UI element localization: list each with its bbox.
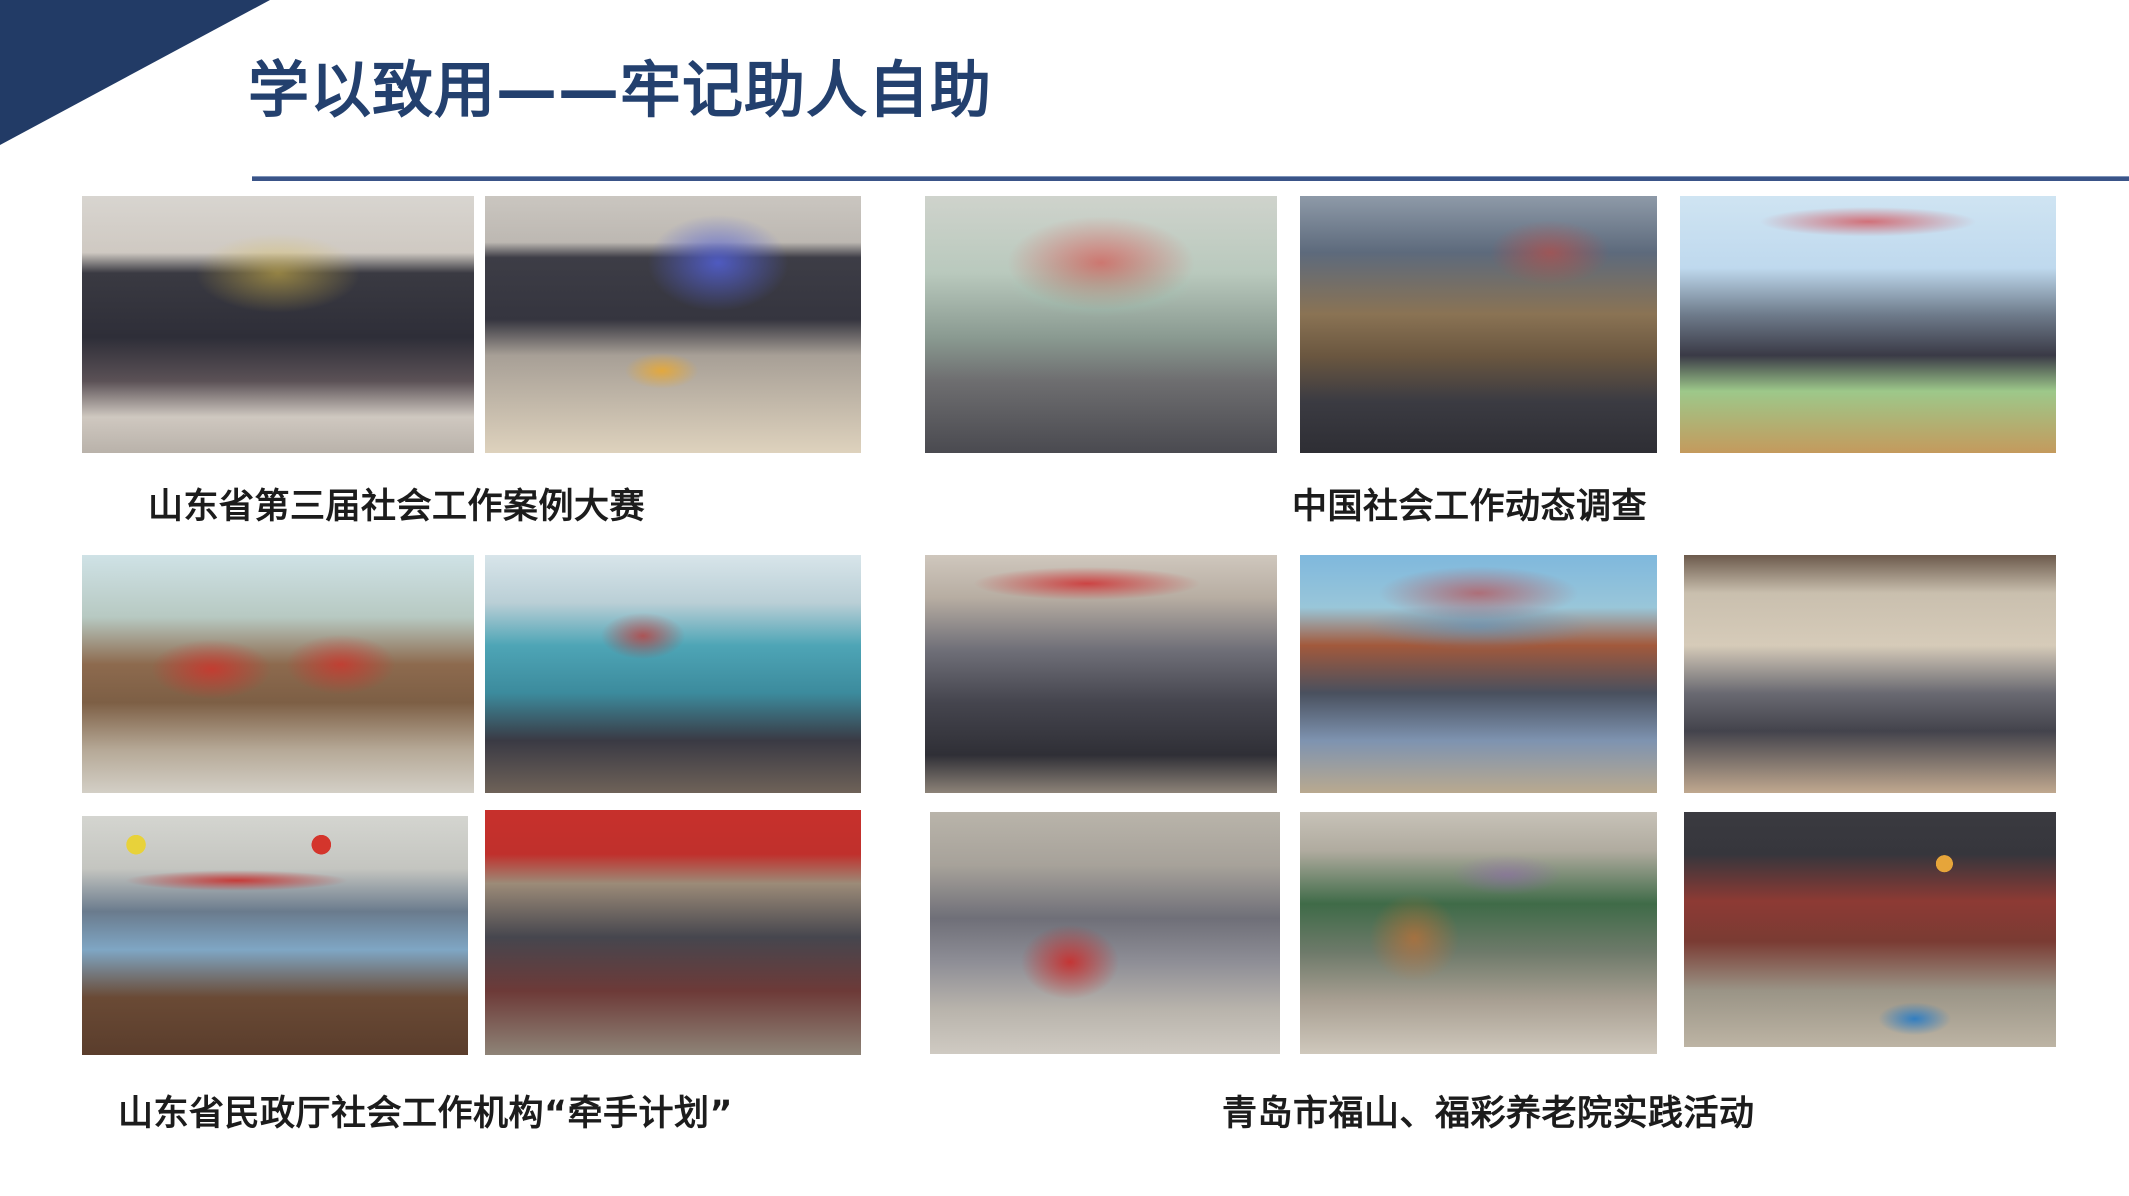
photo-row1-col2 <box>485 196 861 453</box>
photo-row2-col2 <box>485 555 861 793</box>
photo-row2-col5 <box>1684 555 2056 793</box>
photo-row1-col1 <box>82 196 474 453</box>
caption-top-right: 中国社会工作动态调查 <box>1292 478 1647 529</box>
photo-row3-col4 <box>1300 812 1657 1054</box>
photo-row2-col3 <box>925 555 1277 793</box>
photo-row1-col4 <box>1300 196 1657 453</box>
title-underline-rule <box>252 176 2129 181</box>
photo-row2-col1 <box>82 555 474 793</box>
title-block: 学以致用——牢记助人自助 <box>248 56 2129 126</box>
presentation-slide: 学以致用——牢记助人自助 山东省第三届社会工作案例大赛 中国社会工作动态调查 山… <box>0 0 2129 1196</box>
caption-top-left: 山东省第三届社会工作案例大赛 <box>148 478 645 529</box>
caption-bottom-right: 青岛市福山、福彩养老院实践活动 <box>1222 1085 1755 1136</box>
photo-row2-col4 <box>1300 555 1657 793</box>
photo-row1-col5 <box>1680 196 2056 453</box>
photo-row3-col5 <box>1684 812 2056 1047</box>
photo-row1-col3 <box>925 196 1277 453</box>
photo-row3-col1 <box>82 816 468 1055</box>
caption-bottom-left: 山东省民政厅社会工作机构“牵手计划” <box>118 1085 733 1136</box>
slide-title: 学以致用——牢记助人自助 <box>248 56 2129 126</box>
photo-row3-col2 <box>485 810 861 1055</box>
corner-navy-triangle <box>0 0 270 145</box>
photo-row3-col3 <box>930 812 1280 1054</box>
